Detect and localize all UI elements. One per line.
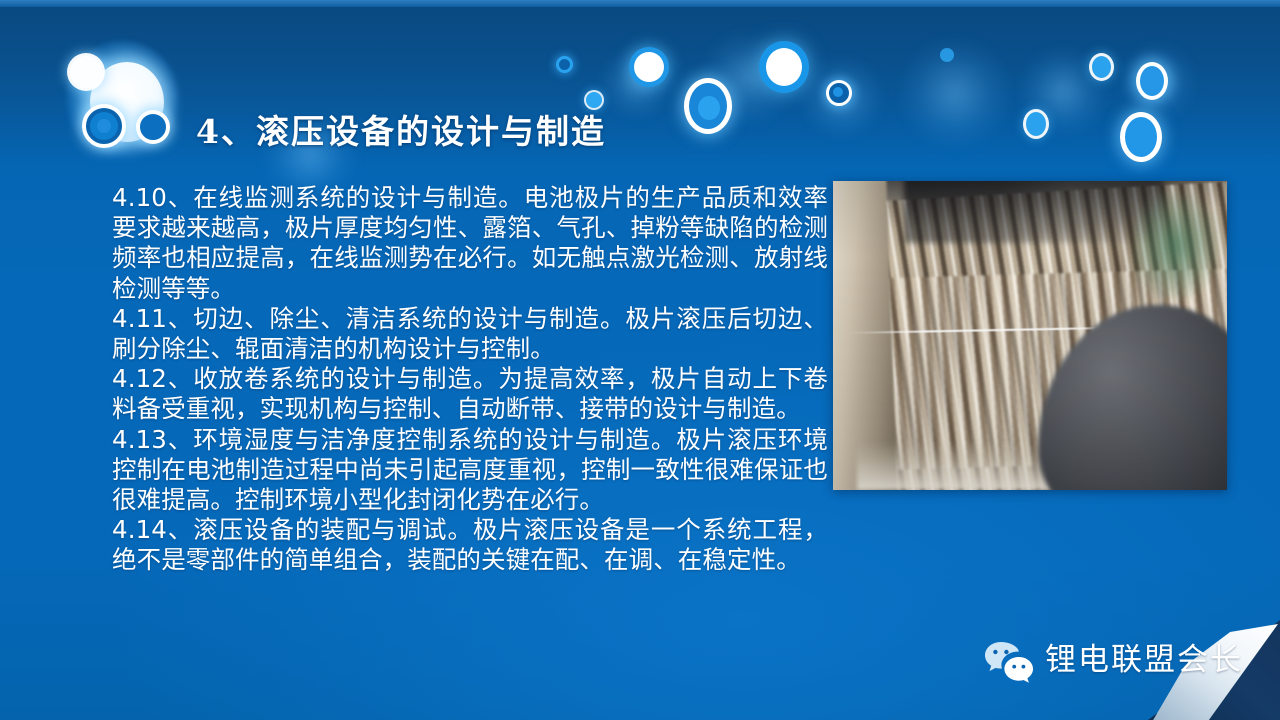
paragraph-4-11: 4.11、切边、除尘、清洁系统的设计与制造。极片滚压后切边、刷分除尘、辊面清洁的… bbox=[112, 304, 828, 364]
paragraph-4-13: 4.13、环境湿度与洁净度控制系统的设计与制造。极片滚压环境控制在电池制造过程中… bbox=[112, 425, 828, 516]
page-title: 4、滚压设备的设计与制造 bbox=[196, 105, 606, 153]
paragraph-4-10: 4.10、在线监测系统的设计与制造。电池极片的生产品质和效率要求越来越高，极片厚… bbox=[112, 183, 828, 304]
emblem-circle-ring-large bbox=[82, 104, 126, 148]
bubble-inner-6 bbox=[833, 87, 843, 97]
glow-blob bbox=[900, 34, 1010, 154]
calendering-roller-photo bbox=[833, 181, 1227, 490]
bubble-ring-11 bbox=[1120, 112, 1162, 162]
watermark-label: 锂电联盟会长 bbox=[1045, 634, 1243, 679]
bubble-solid-9 bbox=[1136, 62, 1168, 100]
bubble-cluster-icon bbox=[58, 36, 186, 164]
bubble-inner-4 bbox=[698, 96, 720, 120]
photo-shading-overlay bbox=[833, 181, 1227, 490]
bubble-small-12 bbox=[940, 48, 954, 62]
emblem-circle-small bbox=[70, 56, 102, 88]
bubble-ring-1 bbox=[556, 56, 573, 73]
body-text-block: 4.10、在线监测系统的设计与制造。电池极片的生产品质和效率要求越来越高，极片厚… bbox=[112, 183, 828, 576]
bubble-white-5 bbox=[766, 48, 802, 86]
slide-root: 4、滚压设备的设计与制造 4.10、在线监测系统的设计与制造。电池极片的生产品质… bbox=[0, 0, 1280, 720]
header-glow-layer bbox=[0, 0, 1280, 175]
emblem-circle-ring-small bbox=[136, 110, 170, 144]
emblem-circle-ring-large-inner bbox=[97, 119, 111, 133]
bubble-solid-7 bbox=[1092, 56, 1111, 78]
paragraph-4-14: 4.14、滚压设备的装配与调试。极片滚压设备是一个系统工程，绝不是零部件的简单组… bbox=[112, 515, 828, 575]
watermark: 锂电联盟会长 bbox=[975, 628, 1280, 720]
wechat-icon bbox=[983, 640, 1035, 684]
bubble-white-3 bbox=[634, 52, 664, 82]
paragraph-4-12: 4.12、收放卷系统的设计与制造。为提高效率，极片自动上下卷料备受重视，实现机构… bbox=[112, 364, 828, 424]
bubble-ring-10 bbox=[1026, 112, 1046, 136]
